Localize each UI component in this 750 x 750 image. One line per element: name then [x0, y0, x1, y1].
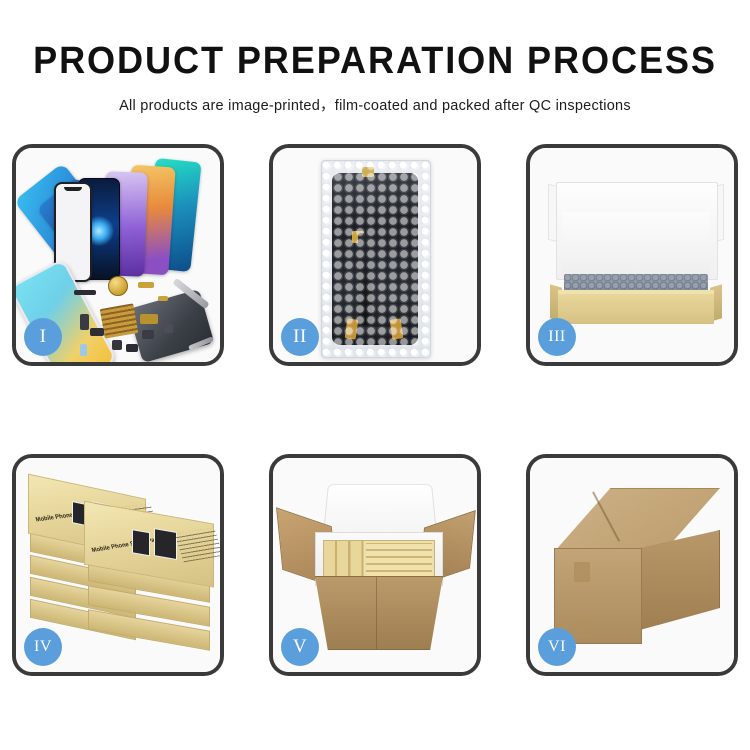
carton-seam: [376, 577, 377, 649]
step-badge-2: II: [281, 318, 319, 356]
spare-part: [140, 314, 158, 324]
page-subtitle: All products are image-printed，film-coat…: [0, 80, 750, 115]
flex-cable: [358, 233, 372, 325]
gold-tab: [362, 167, 374, 177]
carton-tape-patch: [574, 562, 590, 582]
step-badge-1: I: [24, 318, 62, 356]
step-panel-1: I: [12, 144, 224, 366]
step-panel-3: III: [526, 144, 738, 366]
lcd-screen-assembly: [332, 173, 418, 345]
product-preparation-infographic: PRODUCT PREPARATION PROCESS All products…: [0, 0, 750, 750]
gold-connector: [390, 318, 404, 339]
spare-part: [90, 328, 104, 336]
step-badge-5: V: [281, 628, 319, 666]
spare-part: [126, 344, 138, 352]
chip-grid-part: [100, 303, 139, 338]
box-screen-graphic: [132, 529, 150, 556]
white-foam-sheet: [562, 212, 710, 278]
spare-part: [80, 314, 89, 330]
spare-part: [142, 330, 154, 339]
open-inner-box: [548, 182, 724, 332]
box-spec-lines: [175, 528, 224, 563]
step-badge-4: IV: [24, 628, 62, 666]
step-panel-2: II: [269, 144, 481, 366]
step-panel-4: Mobile Phone Spare Parts Mobile Phone Sp…: [12, 454, 224, 676]
carton-front-face: [554, 548, 642, 644]
step-panel-5: V: [269, 454, 481, 676]
step-panel-6: VI: [526, 454, 738, 676]
packed-boxes-contents: [323, 540, 435, 580]
spare-part: [138, 282, 154, 288]
phone-notch: [64, 187, 82, 191]
step-badge-3: III: [538, 318, 576, 356]
header: PRODUCT PREPARATION PROCESS All products…: [0, 0, 750, 115]
spare-part: [80, 344, 87, 356]
spare-part: [112, 340, 122, 350]
process-steps-grid: I II: [12, 144, 738, 676]
spare-part: [164, 324, 173, 333]
spare-part: [158, 296, 168, 301]
outer-carton-body: [315, 576, 443, 650]
spare-part: [74, 290, 96, 295]
page-title: PRODUCT PREPARATION PROCESS: [19, 0, 732, 80]
box-front-panel: [558, 294, 714, 324]
vibration-motor-part: [108, 276, 128, 296]
stacked-box-slats: [366, 543, 432, 577]
carton-tape-patch: [574, 620, 590, 638]
step-badge-6: VI: [538, 628, 576, 666]
box-screen-graphic: [154, 528, 177, 560]
bubble-wrap-bag: [321, 160, 431, 358]
